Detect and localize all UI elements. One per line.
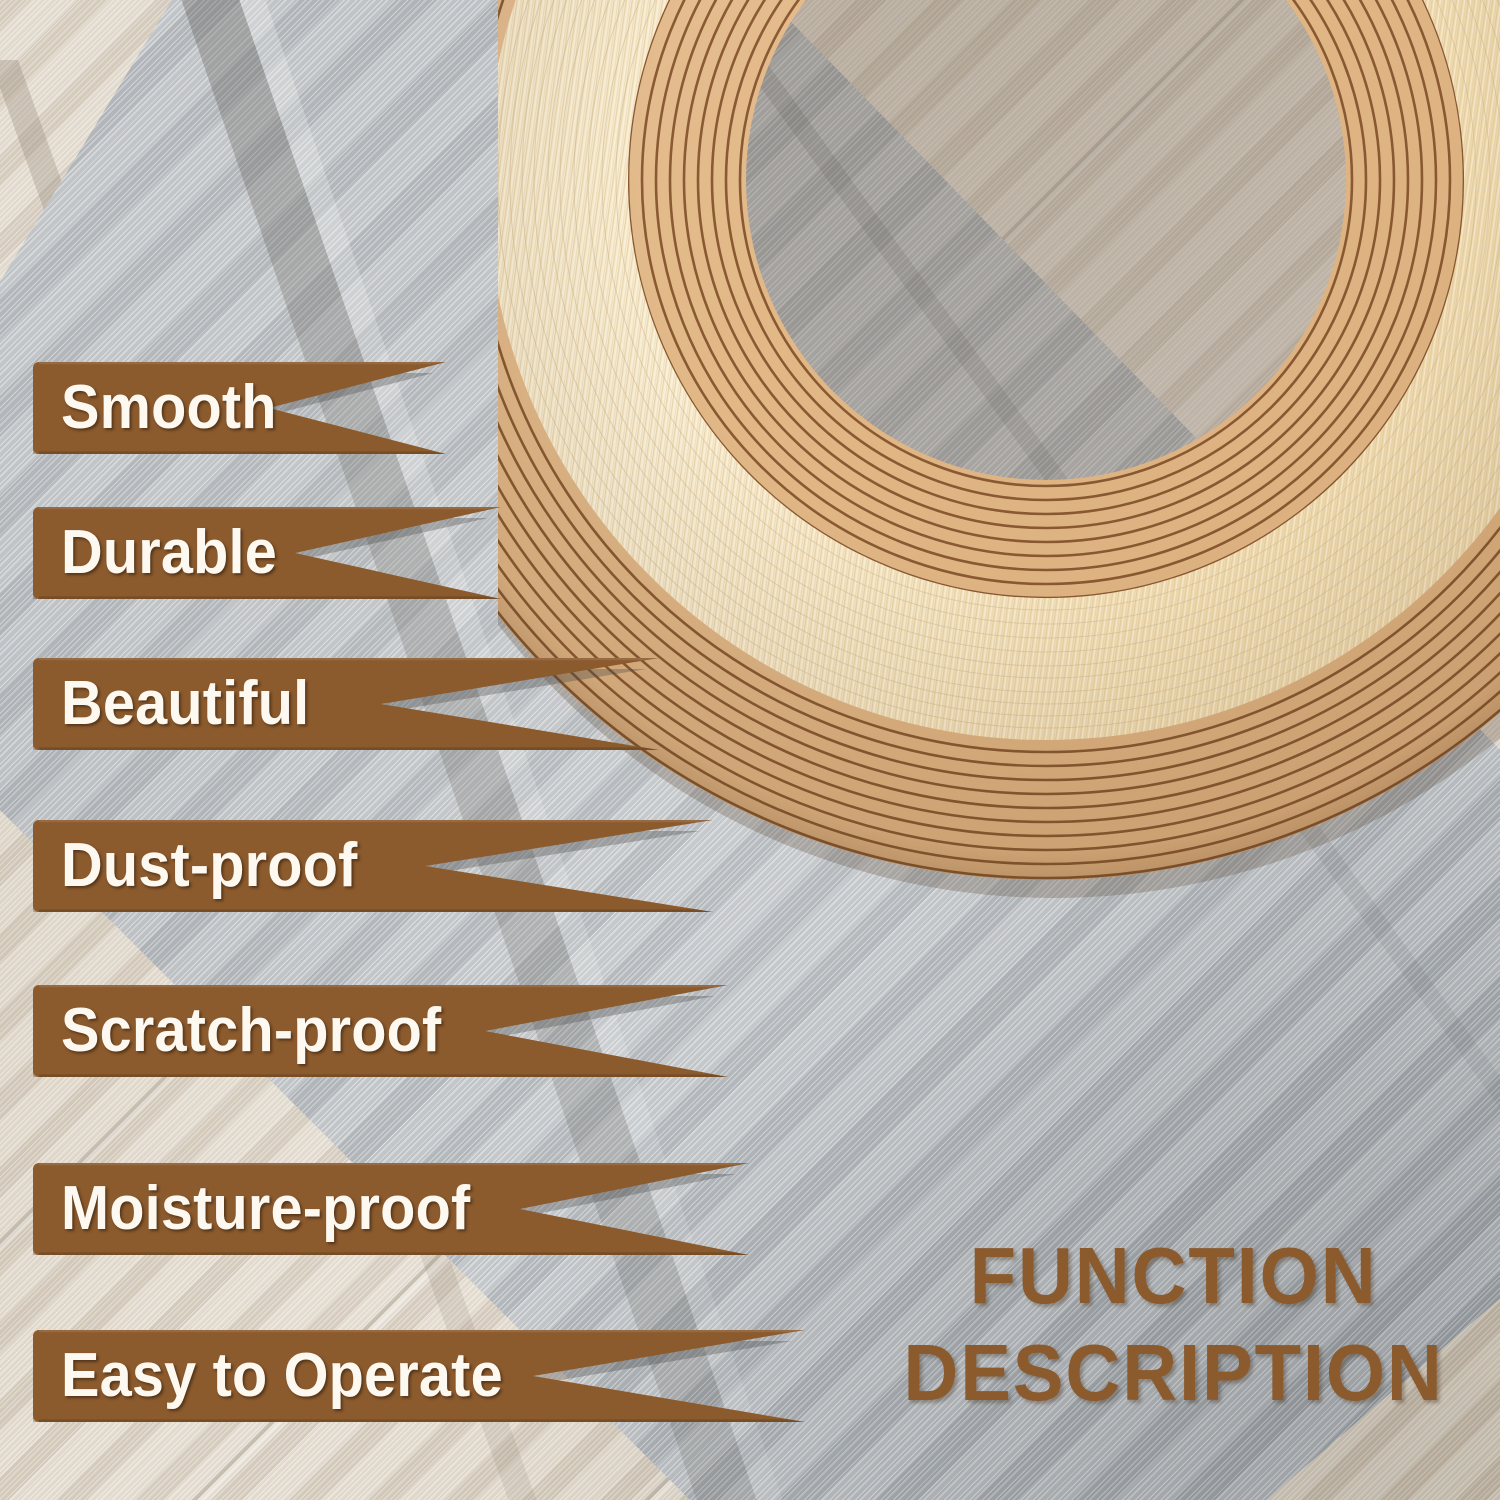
feature-banner: Durable — [33, 507, 501, 599]
feature-banner: Beautiful — [33, 658, 659, 750]
feature-banner-label: Dust-proof — [61, 835, 357, 897]
feature-banner: Moisture-proof — [33, 1163, 749, 1255]
feature-banner: Smooth — [33, 362, 446, 454]
heading-line-2: DESCRIPTION — [904, 1324, 1444, 1422]
feature-banner-label: Scratch-proof — [61, 1000, 441, 1062]
feature-banner-label: Moisture-proof — [61, 1178, 470, 1240]
feature-banner-label: Smooth — [61, 377, 277, 439]
feature-banner-label: Easy to Operate — [61, 1345, 503, 1407]
feature-banner: Dust-proof — [33, 820, 713, 912]
feature-banner: Scratch-proof — [33, 985, 728, 1077]
feature-banner: Easy to Operate — [33, 1330, 805, 1422]
edge-banding-tape-roll — [498, 0, 1500, 940]
function-description-heading: FUNCTION DESCRIPTION — [904, 1227, 1444, 1422]
feature-banner-label: Durable — [61, 522, 277, 584]
heading-line-1: FUNCTION — [970, 1231, 1378, 1320]
product-infographic-canvas: SmoothDurableBeautifulDust-proofScratch-… — [0, 0, 1500, 1500]
feature-banner-label: Beautiful — [61, 673, 309, 735]
